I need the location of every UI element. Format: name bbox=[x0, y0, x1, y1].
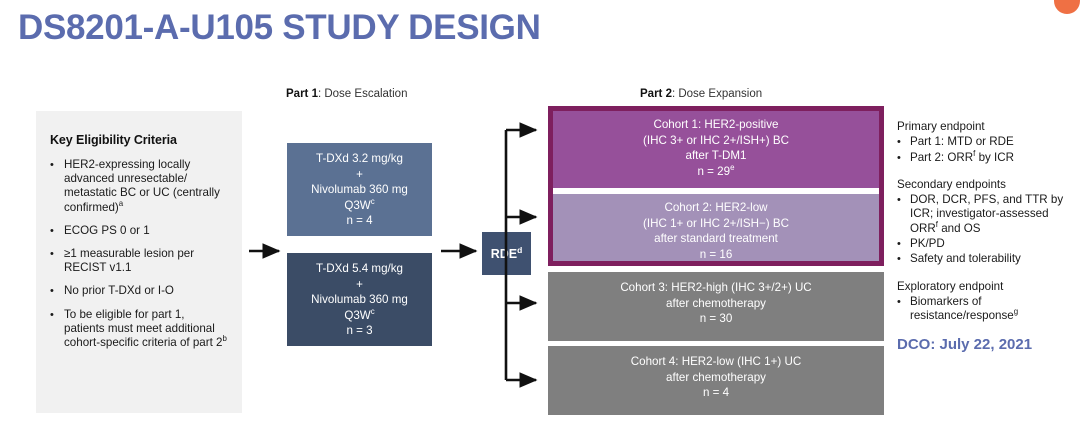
cohort-line: n = 29e bbox=[559, 164, 873, 180]
secondary-endpoint-item: •PK/PD bbox=[897, 237, 1075, 251]
cohort-line: after chemotherapy bbox=[554, 370, 878, 386]
part1-header: Part 1: Dose Escalation bbox=[286, 88, 407, 100]
eligibility-item-label: No prior T-DXd or I-O bbox=[64, 284, 228, 298]
primary-endpoint-list: •Part 1: MTD or RDE•Part 2: ORRf by ICR bbox=[897, 135, 1075, 165]
part1-header-rest: : Dose Escalation bbox=[318, 88, 408, 100]
eligibility-item-label: To be eligible for part 1, patients must… bbox=[64, 308, 228, 351]
cohort-line: n = 30 bbox=[554, 311, 878, 327]
dose-box-line: T-DXd 3.2 mg/kg bbox=[291, 151, 428, 167]
bullet-icon: • bbox=[50, 284, 64, 298]
exploratory-endpoint-item-label: Biomarkers of resistance/responseg bbox=[910, 295, 1075, 324]
secondary-endpoint-item-label: Safety and tolerability bbox=[910, 252, 1075, 266]
eligibility-item: •HER2-expressing locally advanced unrese… bbox=[50, 158, 228, 215]
part2-header-label: Part 2 bbox=[640, 88, 672, 100]
secondary-endpoint-item-label: PK/PD bbox=[910, 237, 1075, 251]
cohort-line: Cohort 2: HER2-low bbox=[559, 200, 873, 216]
dose-box-line: Q3Wc bbox=[291, 198, 428, 214]
cohort-line: (IHC 3+ or IHC 2+/ISH+) BC bbox=[559, 133, 873, 149]
cohort-line: Cohort 4: HER2-low (IHC 1+) UC bbox=[554, 354, 878, 370]
rde-box: RDEd bbox=[482, 232, 531, 275]
slide-root: DS8201-A-U105 STUDY DESIGN Part 1: Dose … bbox=[0, 0, 1080, 428]
bullet-icon: • bbox=[50, 308, 64, 351]
eligibility-item: •To be eligible for part 1, patients mus… bbox=[50, 308, 228, 351]
eligibility-item-label: HER2-expressing locally advanced unresec… bbox=[64, 158, 228, 215]
exploratory-endpoint-heading: Exploratory endpoint bbox=[897, 280, 1075, 294]
bullet-icon: • bbox=[897, 252, 910, 266]
bullet-icon: • bbox=[897, 135, 910, 149]
secondary-endpoint-item: •Safety and tolerability bbox=[897, 252, 1075, 266]
secondary-endpoint-item: •DOR, DCR, PFS, and TTR by ICR; investig… bbox=[897, 193, 1075, 236]
bullet-icon: • bbox=[50, 247, 64, 275]
cohort-1-box: Cohort 1: HER2-positive(IHC 3+ or IHC 2+… bbox=[553, 111, 879, 188]
primary-endpoint-item-label: Part 2: ORRf by ICR bbox=[910, 151, 1075, 165]
cohort-line: after chemotherapy bbox=[554, 296, 878, 312]
endpoints-column: Primary endpoint •Part 1: MTD or RDE•Par… bbox=[897, 120, 1075, 352]
cohort-line: after T-DM1 bbox=[559, 148, 873, 164]
primary-endpoint-item: •Part 1: MTD or RDE bbox=[897, 135, 1075, 149]
cohort-line: n = 16 bbox=[559, 247, 873, 263]
bullet-icon: • bbox=[897, 295, 910, 324]
cohort-2-box: Cohort 2: HER2-low(IHC 1+ or IHC 2+/ISH−… bbox=[553, 194, 879, 261]
primary-endpoint-item: •Part 2: ORRf by ICR bbox=[897, 151, 1075, 165]
spacer-1 bbox=[897, 166, 1075, 178]
secondary-endpoint-item-label: DOR, DCR, PFS, and TTR by ICR; investiga… bbox=[910, 193, 1075, 236]
brand-dot-icon bbox=[1054, 0, 1080, 14]
rde-label: RDEd bbox=[491, 247, 523, 261]
dose-box-line: T-DXd 5.4 mg/kg bbox=[291, 261, 428, 277]
dose-box-line: Q3Wc bbox=[291, 308, 428, 324]
dco-date: DCO: July 22, 2021 bbox=[897, 338, 1075, 352]
eligibility-item: •ECOG PS 0 or 1 bbox=[50, 224, 228, 238]
bullet-icon: • bbox=[897, 237, 910, 251]
bullet-icon: • bbox=[50, 224, 64, 238]
part2-header: Part 2: Dose Expansion bbox=[640, 88, 762, 100]
secondary-endpoints-heading: Secondary endpoints bbox=[897, 178, 1075, 192]
cohort-3-box: Cohort 3: HER2-high (IHC 3+/2+) UCafter … bbox=[548, 272, 884, 341]
bullet-icon: • bbox=[50, 158, 64, 215]
exploratory-endpoint-list: •Biomarkers of resistance/responseg bbox=[897, 295, 1075, 324]
cohort-line: Cohort 1: HER2-positive bbox=[559, 117, 873, 133]
dose-box-line: Nivolumab 360 mg bbox=[291, 182, 428, 198]
cohort-line: after standard treatment bbox=[559, 231, 873, 247]
cohort-line: Cohort 3: HER2-high (IHC 3+/2+) UC bbox=[554, 280, 878, 296]
part1-header-label: Part 1 bbox=[286, 88, 318, 100]
spacer-2 bbox=[897, 268, 1075, 280]
eligibility-item-label: ECOG PS 0 or 1 bbox=[64, 224, 228, 238]
dose-box-line: n = 3 bbox=[291, 323, 428, 339]
eligibility-item: •No prior T-DXd or I-O bbox=[50, 284, 228, 298]
dose-escalation-box-1: T-DXd 3.2 mg/kg+Nivolumab 360 mgQ3Wcn = … bbox=[287, 143, 432, 236]
bullet-icon: • bbox=[897, 193, 910, 236]
cohort-line: n = 4 bbox=[554, 385, 878, 401]
dose-box-line: Nivolumab 360 mg bbox=[291, 292, 428, 308]
eligibility-title: Key Eligibility Criteria bbox=[50, 133, 228, 147]
dose-box-line: n = 4 bbox=[291, 213, 428, 229]
dose-expansion-frame: Cohort 1: HER2-positive(IHC 3+ or IHC 2+… bbox=[548, 106, 884, 266]
part2-header-rest: : Dose Expansion bbox=[672, 88, 762, 100]
cohort-4-box: Cohort 4: HER2-low (IHC 1+) UCafter chem… bbox=[548, 346, 884, 415]
dose-box-line: + bbox=[291, 277, 428, 293]
page-title: DS8201-A-U105 STUDY DESIGN bbox=[18, 8, 541, 48]
secondary-endpoints-list: •DOR, DCR, PFS, and TTR by ICR; investig… bbox=[897, 193, 1075, 266]
cohort-line: (IHC 1+ or IHC 2+/ISH−) BC bbox=[559, 216, 873, 232]
dose-box-line: + bbox=[291, 167, 428, 183]
dose-escalation-box-2: T-DXd 5.4 mg/kg+Nivolumab 360 mgQ3Wcn = … bbox=[287, 253, 432, 346]
key-eligibility-panel: Key Eligibility Criteria •HER2-expressin… bbox=[36, 111, 242, 413]
eligibility-item-label: ≥1 measurable lesion per RECIST v1.1 bbox=[64, 247, 228, 275]
bullet-icon: • bbox=[897, 151, 910, 165]
primary-endpoint-item-label: Part 1: MTD or RDE bbox=[910, 135, 1075, 149]
rde-footnote-marker: d bbox=[517, 244, 522, 254]
eligibility-item: •≥1 measurable lesion per RECIST v1.1 bbox=[50, 247, 228, 275]
primary-endpoint-heading: Primary endpoint bbox=[897, 120, 1075, 134]
exploratory-endpoint-item: •Biomarkers of resistance/responseg bbox=[897, 295, 1075, 324]
eligibility-list: •HER2-expressing locally advanced unrese… bbox=[50, 158, 228, 350]
